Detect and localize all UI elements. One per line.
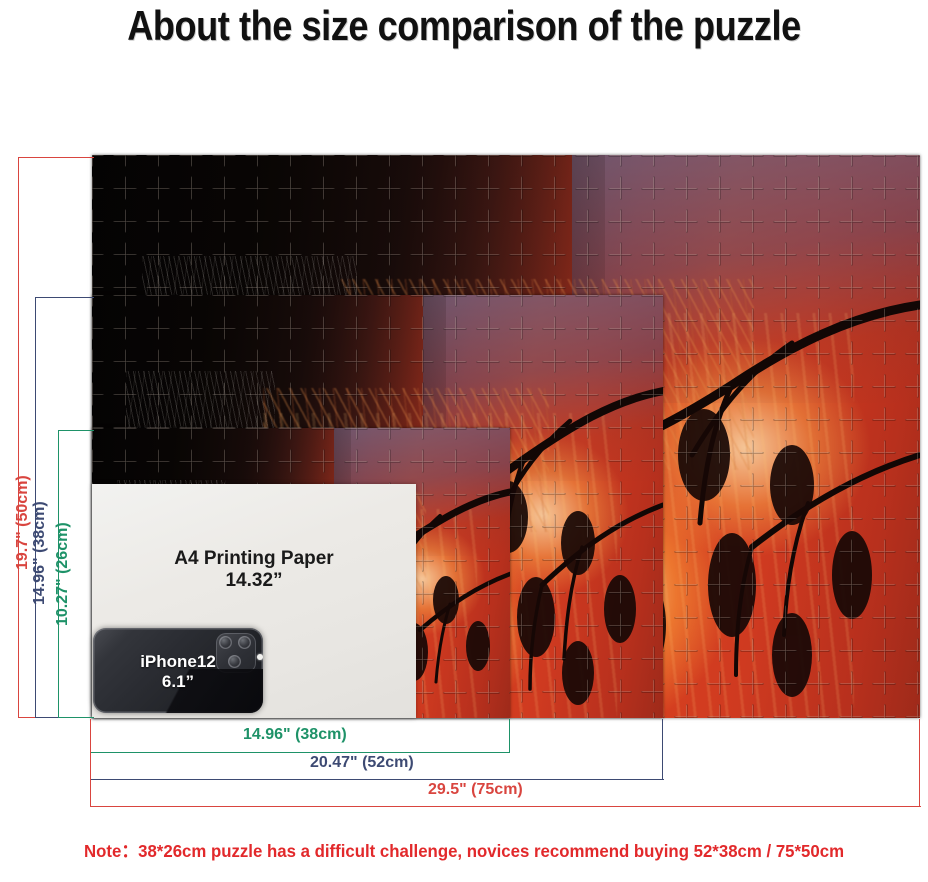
dimension-height-small-label: 10.27" (26cm) xyxy=(54,522,72,626)
iphone12-reference: iPhone12 6.1” xyxy=(93,628,263,713)
camera-lens-icon xyxy=(219,636,232,649)
dimension-height-medium-label: 14.96" (38cm) xyxy=(31,501,49,605)
page-title: About the size comparison of the puzzle xyxy=(65,2,863,50)
dimension-height-large-label: 19.7" (50cm) xyxy=(14,475,32,570)
size-comparison-infographic: About the size comparison of the puzzle xyxy=(0,0,928,882)
dimension-width-medium-label: 20.47" (52cm) xyxy=(310,754,414,772)
iphone-label-line2: 6.1” xyxy=(93,672,263,692)
note-text: Note：38*26cm puzzle has a difficult chal… xyxy=(19,838,910,863)
a4-label-line2: 14.32” xyxy=(92,570,416,591)
iphone-label-line1: iPhone12 xyxy=(93,652,263,672)
dimension-width-small-label: 14.96" (38cm) xyxy=(243,726,347,744)
dimension-width-large-label: 29.5" (75cm) xyxy=(428,781,523,799)
camera-lens-icon xyxy=(238,636,251,649)
a4-label-line1: A4 Printing Paper xyxy=(92,548,416,569)
